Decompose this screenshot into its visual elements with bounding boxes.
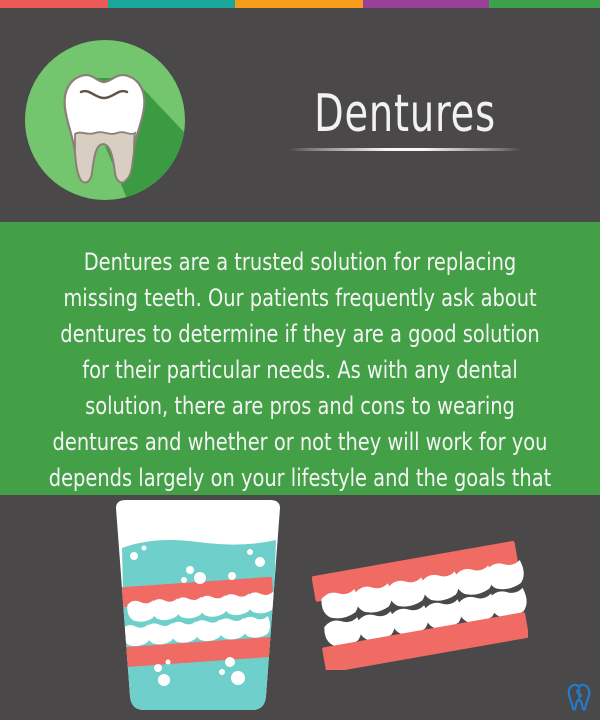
segment-green bbox=[489, 0, 600, 8]
intro-text-band: Dentures are a trusted solution for repl… bbox=[0, 222, 600, 495]
top-color-bar bbox=[0, 0, 600, 8]
glass-of-water-with-dentures-icon bbox=[110, 500, 286, 715]
header-section: Dentures bbox=[0, 8, 600, 222]
tooth-icon-badge bbox=[25, 40, 185, 200]
page-title-block: Dentures bbox=[235, 86, 575, 151]
tooth-icon bbox=[25, 40, 185, 200]
segment-purple bbox=[363, 0, 489, 8]
page-title: Dentures bbox=[266, 86, 545, 142]
infographic-page: Dentures Dentures are a trusted solution… bbox=[0, 0, 600, 720]
segment-orange bbox=[235, 0, 363, 8]
segment-red bbox=[0, 0, 108, 8]
denture-set-icon bbox=[312, 540, 528, 670]
tooth-logo-watermark-icon bbox=[566, 682, 592, 712]
illustration-section bbox=[0, 495, 600, 720]
segment-teal bbox=[108, 0, 235, 8]
title-underline bbox=[289, 148, 521, 151]
